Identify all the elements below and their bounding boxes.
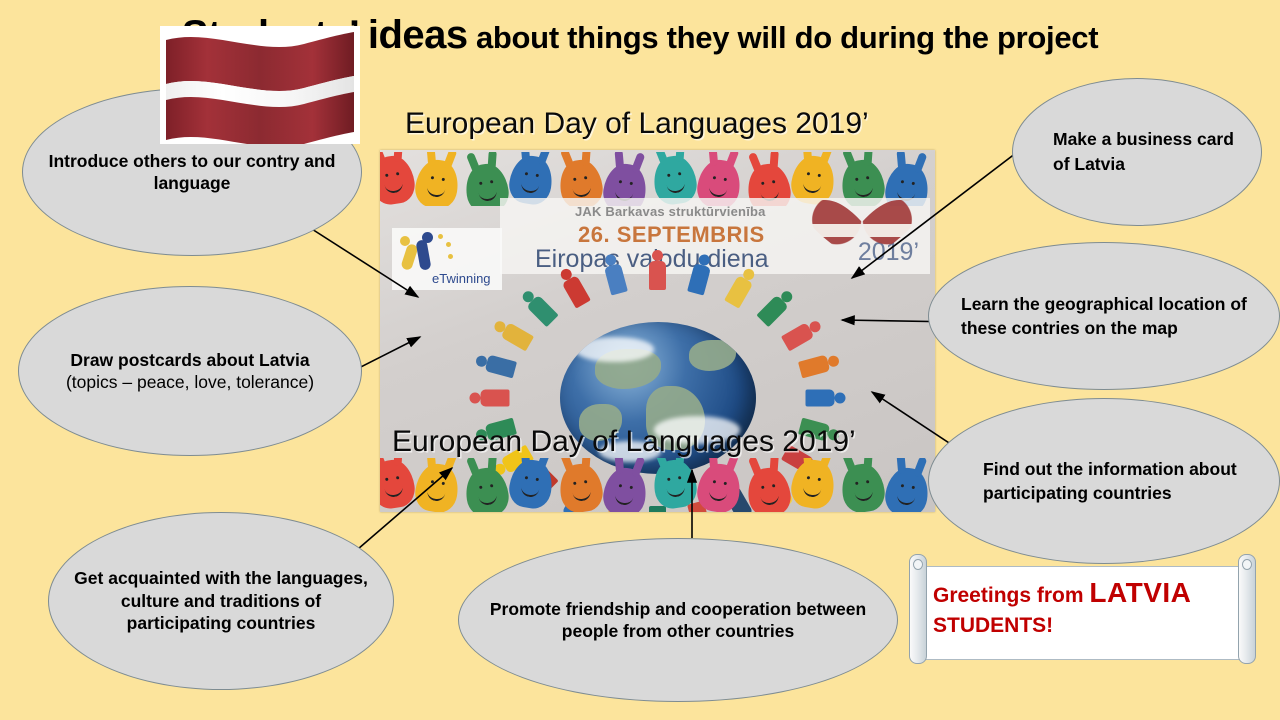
photo-caption-top: European Day of Languages 2019’	[405, 107, 869, 141]
smiley-face-icon	[760, 492, 779, 506]
greetings-banner: Greetings from LATVIA STUDENTS!	[903, 560, 1263, 666]
bubble-business-card-label: Make a business card of Latvia	[1013, 127, 1261, 178]
etwinning-label: eTwinning	[432, 271, 491, 286]
handprint-icon	[695, 461, 744, 512]
handprint-icon	[601, 465, 650, 512]
handprint-icon	[413, 157, 462, 206]
handprint-icon	[883, 465, 932, 512]
handprint-icon	[745, 465, 793, 512]
smiley-face-icon	[572, 488, 591, 502]
bubble-business-card[interactable]: Make a business card of Latvia	[1012, 78, 1262, 226]
smiley-face-icon	[708, 184, 728, 199]
title-rest: about things they will do during the pro…	[468, 20, 1099, 55]
handprint-icon	[557, 461, 605, 512]
bubble-promote-friendship[interactable]: Promote friendship and cooperation betwe…	[458, 538, 898, 702]
smiley-face-icon	[478, 492, 497, 506]
bubble-draw-postcards-label: Draw postcards about Latvia (topics – pe…	[19, 349, 361, 394]
bubble-get-acquainted[interactable]: Get acquainted with the languages, cultu…	[48, 512, 394, 690]
smiley-face-icon	[614, 492, 634, 507]
banner-students: STUDENTS!	[933, 614, 1053, 637]
smiley-face-icon	[572, 184, 591, 198]
smiley-face-icon	[802, 484, 822, 499]
scroll-roll-right-icon	[1238, 554, 1256, 664]
smiley-face-icon	[854, 488, 873, 502]
smiley-face-icon	[520, 484, 540, 499]
smiley-face-icon	[426, 184, 446, 199]
bubble-postcards-bold: Draw postcards about Latvia	[70, 350, 309, 370]
bubble-postcards-regular: (topics – peace, love, tolerance)	[66, 372, 314, 392]
slide-canvas: Students’ ideas about things they will d…	[0, 0, 1280, 720]
smiley-face-icon	[426, 488, 446, 503]
bubble-geographical-location[interactable]: Learn the geographical location of these…	[928, 242, 1280, 390]
smiley-face-icon	[708, 488, 728, 503]
bubble-introduce-others-label: Introduce others to our contry and langu…	[23, 150, 361, 195]
bubble-promote-friendship-label: Promote friendship and cooperation betwe…	[459, 598, 897, 643]
handprint-icon	[507, 458, 556, 511]
smiley-face-icon	[666, 484, 685, 498]
smiley-face-icon	[896, 492, 916, 507]
bubble-find-out-information[interactable]: Find out the information about participa…	[928, 398, 1280, 564]
bubble-find-out-information-label: Find out the information about participa…	[929, 457, 1279, 506]
handprints-bottom	[380, 458, 935, 512]
bubble-get-acquainted-label: Get acquainted with the languages, cultu…	[49, 567, 393, 634]
flag-person-figure	[806, 390, 846, 407]
handprint-icon	[413, 461, 462, 512]
poster-organisation: JAK Barkavas struktūrvienība	[575, 204, 766, 219]
scroll-roll-left-icon	[909, 554, 927, 664]
photo-caption-bottom: European Day of Languages 2019’	[392, 425, 856, 459]
handprint-icon	[839, 461, 887, 512]
etwinning-logo: eTwinning	[392, 228, 502, 290]
handprint-icon	[380, 153, 417, 206]
smiley-face-icon	[384, 484, 403, 498]
flag-person-figure	[470, 390, 510, 407]
banner-greeting: Greetings from	[933, 584, 1089, 607]
latvia-flag-icon	[160, 26, 360, 144]
bubble-draw-postcards[interactable]: Draw postcards about Latvia (topics – pe…	[18, 286, 362, 456]
banner-text: Greetings from LATVIA STUDENTS!	[933, 574, 1233, 640]
handprint-icon	[651, 458, 699, 511]
handprint-icon	[380, 458, 417, 511]
handprint-icon	[933, 153, 935, 206]
bubble-geographical-location-label: Learn the geographical location of these…	[929, 292, 1279, 341]
flag-person-figure	[649, 250, 666, 290]
smiley-face-icon	[384, 180, 403, 194]
smiley-face-icon	[478, 188, 497, 202]
smiley-face-icon	[520, 180, 540, 195]
smiley-face-icon	[666, 180, 685, 194]
handprint-icon	[789, 458, 838, 511]
handprint-icon	[463, 465, 511, 512]
banner-country: LATVIA	[1089, 577, 1191, 608]
latvia-heart-icon	[807, 192, 923, 270]
